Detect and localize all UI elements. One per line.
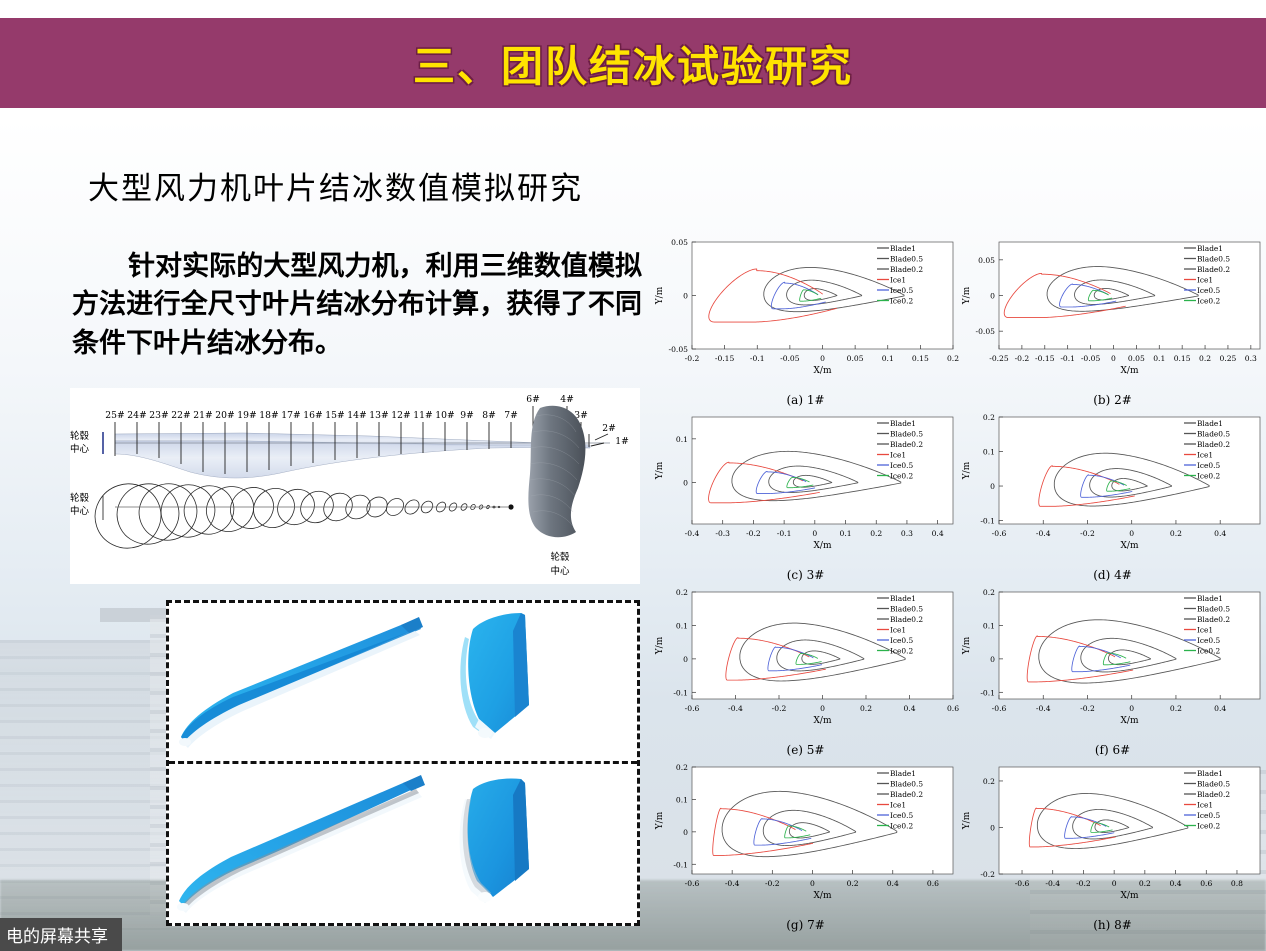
svg-text:Y/m: Y/m [655, 636, 665, 655]
blade-planform-diagram: 25# 24# 23# 22# 21# 20# 19# 18# 17# 16# … [70, 388, 640, 584]
svg-text:9#: 9# [460, 410, 474, 421]
svg-text:X/m: X/m [1121, 891, 1139, 901]
screen-share-label: 电的屏幕共享 [6, 922, 108, 947]
svg-text:0.2: 0.2 [983, 413, 995, 422]
svg-text:-0.2: -0.2 [746, 529, 761, 538]
svg-text:X/m: X/m [814, 716, 832, 726]
chart-caption: (d) 4# [959, 568, 1266, 582]
svg-text:Blade0.2: Blade0.2 [1197, 615, 1230, 624]
svg-text:0.2: 0.2 [676, 588, 688, 597]
svg-text:Blade1: Blade1 [890, 769, 916, 778]
svg-text:Ice1: Ice1 [1197, 276, 1213, 285]
svg-text:X/m: X/m [814, 366, 832, 376]
chart-c-c3: -0.4-0.3-0.2-0.100.10.20.30.400.1X/mY/mB… [652, 407, 959, 582]
svg-text:Ice0.5: Ice0.5 [890, 811, 913, 820]
svg-text:0.05: 0.05 [671, 238, 688, 247]
svg-text:6#: 6# [526, 394, 540, 405]
svg-text:8#: 8# [482, 410, 496, 421]
svg-text:0: 0 [683, 479, 688, 488]
svg-text:15#: 15# [325, 410, 344, 421]
svg-text:-0.2: -0.2 [772, 704, 787, 713]
svg-text:-0.4: -0.4 [1045, 879, 1060, 888]
svg-text:11#: 11# [413, 410, 432, 421]
svg-text:24#: 24# [127, 410, 146, 421]
chart-caption: (f) 6# [959, 743, 1266, 757]
hub-3d-model [528, 406, 585, 537]
svg-text:-0.1: -0.1 [673, 688, 688, 697]
svg-text:-0.1: -0.1 [980, 688, 995, 697]
svg-text:0: 0 [683, 828, 688, 837]
svg-text:0: 0 [1112, 879, 1117, 888]
svg-text:Blade0.2: Blade0.2 [890, 265, 923, 274]
svg-text:Ice0.2: Ice0.2 [890, 822, 913, 831]
svg-text:轮毂: 轮毂 [550, 551, 570, 563]
svg-text:0.05: 0.05 [847, 354, 864, 363]
svg-text:18#: 18# [259, 410, 278, 421]
presentation-slide: 三、团队结冰试验研究 大型风力机叶片结冰数值模拟研究 针对实际的大型风力机，利用… [0, 0, 1266, 951]
svg-text:Blade1: Blade1 [1197, 244, 1223, 253]
svg-text:Ice0.2: Ice0.2 [890, 647, 913, 656]
svg-text:0.1: 0.1 [839, 529, 851, 538]
svg-text:-0.2: -0.2 [1080, 529, 1095, 538]
chart-h-h8: -0.6-0.4-0.200.20.40.60.8-0.200.2X/mY/mB… [959, 757, 1266, 932]
svg-text:Blade0.5: Blade0.5 [1197, 780, 1230, 789]
svg-text:14#: 14# [347, 410, 366, 421]
svg-text:Blade0.2: Blade0.2 [1197, 790, 1230, 799]
svg-text:Blade1: Blade1 [890, 594, 916, 603]
blade-render-photo-box [166, 600, 640, 926]
svg-text:Blade0.5: Blade0.5 [890, 255, 923, 264]
svg-text:2#: 2# [602, 423, 616, 434]
svg-text:0.6: 0.6 [947, 704, 959, 713]
chart-g-g7: -0.6-0.4-0.200.20.40.6-0.100.10.2X/mY/mB… [652, 757, 959, 932]
svg-text:1#: 1# [615, 436, 629, 447]
svg-text:0.4: 0.4 [1214, 529, 1226, 538]
svg-text:-0.25: -0.25 [989, 354, 1009, 363]
svg-text:Ice0.2: Ice0.2 [1197, 472, 1220, 481]
svg-text:-0.05: -0.05 [780, 354, 800, 363]
svg-text:X/m: X/m [814, 541, 832, 551]
svg-text:-0.1: -0.1 [750, 354, 765, 363]
chart-caption: (c) 3# [652, 568, 959, 582]
svg-text:0.2: 0.2 [1170, 529, 1182, 538]
svg-text:0.05: 0.05 [978, 256, 995, 265]
svg-text:0.2: 0.2 [676, 763, 688, 772]
chart-caption: (e) 5# [652, 743, 959, 757]
svg-text:0: 0 [1129, 529, 1134, 538]
svg-text:-0.1: -0.1 [1060, 354, 1075, 363]
svg-text:-0.2: -0.2 [1015, 354, 1030, 363]
svg-text:Ice0.5: Ice0.5 [890, 461, 913, 470]
svg-text:Blade0.2: Blade0.2 [1197, 265, 1230, 274]
svg-text:Blade0.5: Blade0.5 [1197, 255, 1230, 264]
svg-text:-0.6: -0.6 [1015, 879, 1030, 888]
svg-text:0.1: 0.1 [676, 621, 688, 630]
svg-text:0: 0 [990, 823, 995, 832]
chart-caption: (b) 2# [959, 393, 1266, 407]
svg-text:Y/m: Y/m [655, 461, 665, 480]
blade-render-bottom-tip [427, 775, 577, 921]
svg-text:轮毂: 轮毂 [70, 430, 90, 442]
svg-text:-0.05: -0.05 [1081, 354, 1101, 363]
chart-b-b2: -0.25-0.2-0.15-0.1-0.0500.050.10.150.20.… [959, 232, 1266, 407]
svg-text:4#: 4# [560, 394, 574, 405]
svg-text:0.2: 0.2 [983, 777, 995, 786]
svg-text:Blade0.5: Blade0.5 [890, 430, 923, 439]
svg-text:Ice0.2: Ice0.2 [890, 297, 913, 306]
svg-text:0: 0 [990, 292, 995, 301]
svg-text:-0.05: -0.05 [669, 345, 689, 354]
svg-text:Y/m: Y/m [655, 286, 665, 305]
body-paragraph: 针对实际的大型风力机，利用三维数值模拟方法进行全尺寸叶片结冰分布计算，获得了不同… [72, 248, 642, 363]
svg-text:10#: 10# [435, 410, 454, 421]
icing-distribution-chart-grid: -0.2-0.15-0.1-0.0500.050.10.150.2-0.0500… [652, 232, 1266, 932]
svg-text:中心: 中心 [70, 443, 90, 455]
svg-text:Y/m: Y/m [962, 461, 972, 480]
svg-text:0: 0 [812, 529, 817, 538]
svg-text:-0.2: -0.2 [765, 879, 780, 888]
svg-text:17#: 17# [281, 410, 300, 421]
svg-text:0.2: 0.2 [1170, 704, 1182, 713]
svg-text:Blade0.2: Blade0.2 [890, 790, 923, 799]
svg-text:-0.6: -0.6 [685, 704, 700, 713]
chart-caption: (h) 8# [959, 918, 1266, 932]
svg-text:Y/m: Y/m [962, 636, 972, 655]
svg-text:Ice0.2: Ice0.2 [1197, 297, 1220, 306]
svg-text:-0.4: -0.4 [728, 704, 743, 713]
svg-text:Blade0.2: Blade0.2 [890, 615, 923, 624]
svg-text:0: 0 [990, 482, 995, 491]
svg-text:轮毂: 轮毂 [70, 492, 90, 504]
svg-text:-0.3: -0.3 [715, 529, 730, 538]
svg-text:Ice0.5: Ice0.5 [1197, 286, 1220, 295]
svg-text:中心: 中心 [550, 565, 570, 577]
svg-text:Ice0.5: Ice0.5 [1197, 636, 1220, 645]
svg-text:-0.4: -0.4 [685, 529, 700, 538]
svg-text:Ice0.5: Ice0.5 [1197, 811, 1220, 820]
svg-text:Blade1: Blade1 [890, 244, 916, 253]
svg-text:0.6: 0.6 [927, 879, 939, 888]
hub-center-label-mid: 轮毂 中心 [70, 492, 103, 520]
svg-text:12#: 12# [391, 410, 410, 421]
svg-text:-0.2: -0.2 [1080, 704, 1095, 713]
svg-text:0: 0 [683, 292, 688, 301]
svg-text:0.2: 0.2 [860, 704, 872, 713]
svg-text:0.2: 0.2 [947, 354, 959, 363]
chart-f-f6: -0.6-0.4-0.200.20.4-0.100.10.2X/mY/mBlad… [959, 582, 1266, 757]
svg-text:Ice0.2: Ice0.2 [1197, 647, 1220, 656]
svg-text:0.3: 0.3 [1245, 354, 1257, 363]
svg-text:22#: 22# [171, 410, 190, 421]
svg-text:0.6: 0.6 [1200, 879, 1212, 888]
chart-a-a1: -0.2-0.15-0.1-0.0500.050.10.150.2-0.0500… [652, 232, 959, 407]
svg-text:-0.2: -0.2 [1076, 879, 1091, 888]
svg-text:Ice1: Ice1 [890, 276, 906, 285]
svg-text:Blade0.2: Blade0.2 [890, 440, 923, 449]
svg-text:Blade1: Blade1 [890, 419, 916, 428]
svg-text:X/m: X/m [1121, 541, 1139, 551]
svg-text:0.2: 0.2 [870, 529, 882, 538]
svg-text:Ice1: Ice1 [1197, 801, 1213, 810]
svg-text:0: 0 [820, 704, 825, 713]
svg-text:Blade1: Blade1 [1197, 419, 1223, 428]
svg-text:-0.1: -0.1 [980, 517, 995, 526]
airfoil-section-stack [87, 475, 514, 556]
blade-render-top-tip [429, 609, 579, 757]
svg-text:0.05: 0.05 [1128, 354, 1145, 363]
svg-text:0.15: 0.15 [912, 354, 929, 363]
svg-text:0.2: 0.2 [847, 879, 859, 888]
svg-text:Ice1: Ice1 [1197, 451, 1213, 460]
svg-text:0.1: 0.1 [983, 448, 995, 457]
svg-text:0: 0 [820, 354, 825, 363]
svg-text:13#: 13# [369, 410, 388, 421]
svg-text:0.8: 0.8 [1231, 879, 1243, 888]
svg-text:Ice0.5: Ice0.5 [1197, 461, 1220, 470]
svg-text:0.1: 0.1 [1153, 354, 1165, 363]
svg-text:Blade1: Blade1 [1197, 594, 1223, 603]
svg-text:0.4: 0.4 [932, 529, 944, 538]
svg-text:0: 0 [990, 655, 995, 664]
svg-text:0.3: 0.3 [901, 529, 913, 538]
svg-text:16#: 16# [303, 410, 322, 421]
svg-text:-0.4: -0.4 [1036, 529, 1051, 538]
svg-text:-0.6: -0.6 [992, 704, 1007, 713]
svg-text:Blade0.5: Blade0.5 [890, 780, 923, 789]
screen-share-badge: 电的屏幕共享 [0, 918, 122, 951]
svg-text:0.4: 0.4 [1214, 704, 1226, 713]
svg-text:Y/m: Y/m [655, 811, 665, 830]
svg-text:Blade0.5: Blade0.5 [890, 605, 923, 614]
svg-text:Ice1: Ice1 [890, 801, 906, 810]
svg-text:25#: 25# [105, 410, 124, 421]
svg-text:Blade0.2: Blade0.2 [1197, 440, 1230, 449]
svg-text:0: 0 [1111, 354, 1116, 363]
svg-text:X/m: X/m [1121, 716, 1139, 726]
svg-text:Ice0.5: Ice0.5 [890, 636, 913, 645]
svg-text:Y/m: Y/m [962, 286, 972, 305]
svg-text:0.1: 0.1 [676, 435, 688, 444]
svg-text:X/m: X/m [814, 891, 832, 901]
svg-text:0.4: 0.4 [887, 879, 899, 888]
svg-text:-0.6: -0.6 [992, 529, 1007, 538]
svg-text:21#: 21# [193, 410, 212, 421]
svg-text:中心: 中心 [70, 505, 90, 517]
svg-text:0: 0 [1129, 704, 1134, 713]
svg-text:-0.4: -0.4 [725, 879, 740, 888]
svg-text:-0.15: -0.15 [1035, 354, 1055, 363]
chart-d-d4: -0.6-0.4-0.200.20.4-0.100.10.2X/mY/mBlad… [959, 407, 1266, 582]
svg-text:Ice0.5: Ice0.5 [890, 286, 913, 295]
svg-text:-0.2: -0.2 [980, 870, 995, 879]
svg-text:0: 0 [683, 655, 688, 664]
svg-text:Ice1: Ice1 [1197, 626, 1213, 635]
hub-center-label-right: 轮毂 中心 [550, 551, 570, 577]
svg-text:0.2: 0.2 [1199, 354, 1211, 363]
svg-text:Blade0.5: Blade0.5 [1197, 430, 1230, 439]
chart-caption: (g) 7# [652, 918, 959, 932]
svg-text:-0.2: -0.2 [685, 354, 700, 363]
svg-text:-0.05: -0.05 [976, 327, 996, 336]
svg-text:0.2: 0.2 [1139, 879, 1151, 888]
svg-text:Y/m: Y/m [962, 811, 972, 830]
svg-text:7#: 7# [504, 410, 518, 421]
svg-text:0.2: 0.2 [983, 588, 995, 597]
section-subtitle: 大型风力机叶片结冰数值模拟研究 [88, 163, 583, 208]
chart-caption: (a) 1# [652, 393, 959, 407]
svg-text:20#: 20# [215, 410, 234, 421]
svg-text:0.1: 0.1 [983, 621, 995, 630]
chart-e-e5: -0.6-0.4-0.200.20.40.6-0.100.10.2X/mY/mB… [652, 582, 959, 757]
svg-text:0.1: 0.1 [882, 354, 894, 363]
svg-text:Ice0.2: Ice0.2 [890, 472, 913, 481]
svg-text:0.1: 0.1 [676, 795, 688, 804]
svg-text:Ice0.2: Ice0.2 [1197, 822, 1220, 831]
svg-text:Ice1: Ice1 [890, 451, 906, 460]
svg-text:-0.15: -0.15 [715, 354, 735, 363]
photo-box-divider [169, 761, 637, 764]
svg-text:-0.4: -0.4 [1036, 704, 1051, 713]
svg-text:0.4: 0.4 [1170, 879, 1182, 888]
svg-text:19#: 19# [237, 410, 256, 421]
page-title: 三、团队结冰试验研究 [0, 18, 1266, 108]
svg-text:X/m: X/m [1121, 366, 1139, 376]
svg-text:0.15: 0.15 [1174, 354, 1191, 363]
svg-text:0.4: 0.4 [903, 704, 915, 713]
svg-text:-0.1: -0.1 [777, 529, 792, 538]
svg-text:-0.6: -0.6 [685, 879, 700, 888]
svg-text:Blade0.5: Blade0.5 [1197, 605, 1230, 614]
svg-text:-0.1: -0.1 [673, 860, 688, 869]
svg-text:Ice1: Ice1 [890, 626, 906, 635]
svg-text:0: 0 [810, 879, 815, 888]
svg-text:23#: 23# [149, 410, 168, 421]
svg-text:Blade1: Blade1 [1197, 769, 1223, 778]
svg-text:0.25: 0.25 [1219, 354, 1236, 363]
hub-center-label-top: 轮毂 中心 [70, 430, 103, 455]
